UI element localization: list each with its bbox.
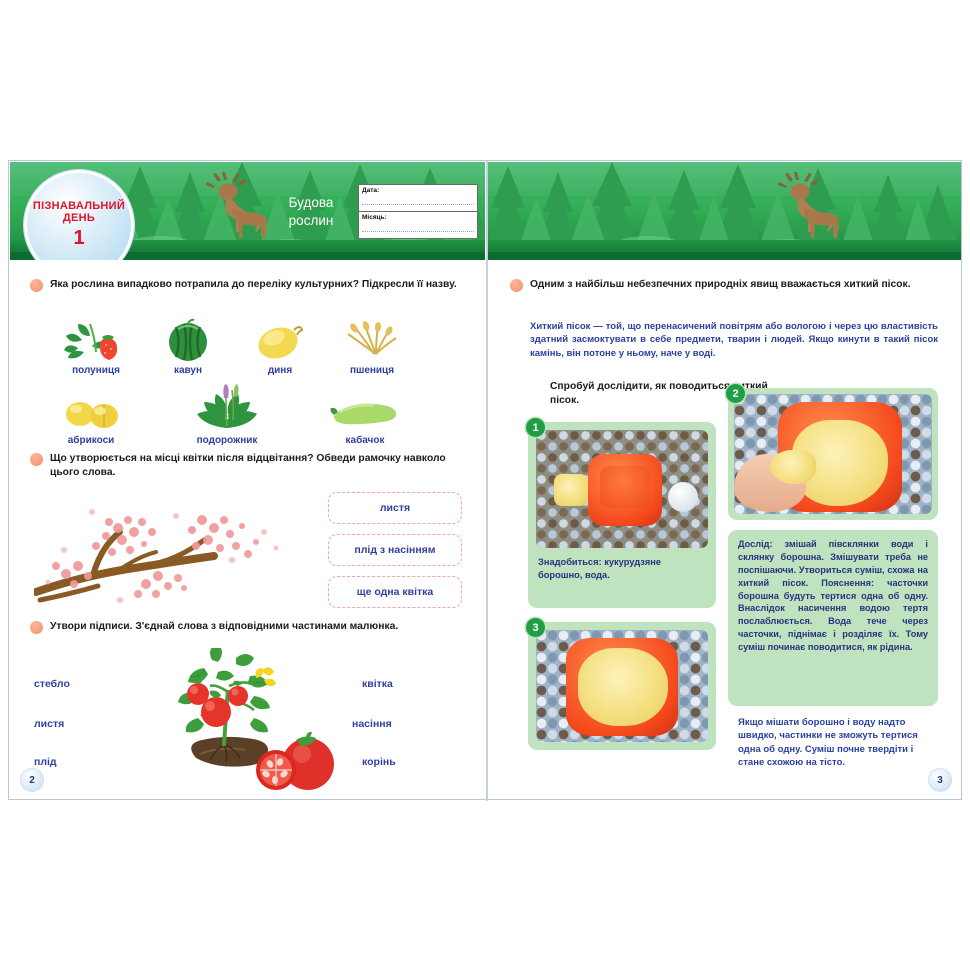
task-3-question: Утвори підписи. З'єднай слова з відповід…	[50, 620, 470, 634]
orange-bowl-shape	[588, 454, 662, 526]
item-label: пшениця	[324, 365, 420, 376]
badge-line-1: ПІЗНАВАЛЬНИЙ	[33, 201, 125, 213]
item-strawberry[interactable]: полуниця	[48, 318, 144, 376]
month-label: Місяць:	[362, 214, 387, 221]
band-ground-shadow	[488, 252, 961, 260]
task-bullet-icon	[510, 279, 523, 292]
experiment-explanation: Дослід: змішай півсклянки води і склянку…	[738, 538, 928, 654]
step-number-3: 3	[526, 618, 545, 637]
deer-icon	[188, 172, 274, 244]
date-field-row[interactable]: Дата:	[359, 185, 477, 212]
experiment-card-3: 3	[528, 622, 716, 750]
bowl-flour-glass-photo	[536, 430, 708, 548]
option-box-3[interactable]: ще одна квітка	[328, 576, 462, 608]
bowl-of-flour-photo	[536, 630, 708, 742]
month-field-row[interactable]: Місяць:	[359, 212, 477, 238]
label-korin[interactable]: корінь	[362, 756, 396, 768]
label-kvitka[interactable]: квітка	[362, 678, 393, 690]
left-header-band: ПІЗНАВАЛЬНИЙ ДЕНЬ 1 Будова рослин Дата: …	[10, 162, 485, 260]
step-number-1: 1	[526, 418, 545, 437]
right-header-band: ДЕНЬ ЕКСПЕРИМЕНТІВ 2 Хиткий пісок Дата: …	[488, 162, 961, 260]
task-bullet-icon	[30, 453, 43, 466]
option-label: плід з насінням	[354, 544, 435, 556]
left-page-number: 2	[20, 768, 44, 792]
label-nasinnya[interactable]: насіння	[352, 718, 392, 730]
book-spread-page: ПІЗНАВАЛЬНИЙ ДЕНЬ 1 Будова рослин Дата: …	[0, 0, 970, 970]
lead-paragraph-block: Одним з найбільш небезпечних природніх я…	[510, 278, 936, 292]
option-label: ще одна квітка	[357, 586, 434, 598]
task-bullet-icon	[30, 621, 43, 634]
task-3: Утвори підписи. З'єднай слова з відповід…	[30, 620, 470, 634]
item-wheat[interactable]: пшениця	[324, 318, 420, 376]
watermelon-icon	[140, 318, 236, 362]
task-bullet-icon	[30, 279, 43, 292]
item-plantain[interactable]: подорожник	[162, 382, 292, 446]
flour-in-hand-shape	[770, 450, 816, 484]
melon-icon	[232, 318, 328, 362]
task-2: Що утворюється на місці квітки після від…	[30, 452, 460, 480]
date-label: Дата:	[362, 187, 379, 194]
item-melon[interactable]: диня	[232, 318, 328, 376]
plantain-icon	[162, 382, 292, 432]
item-label: подорожник	[162, 435, 292, 446]
blossom-branch-image	[34, 488, 294, 608]
experiment-card-2: 2	[728, 388, 938, 520]
apricots-icon	[38, 388, 144, 432]
zucchini-icon	[310, 388, 420, 432]
closing-paragraph: Якщо мішати борошно і воду надто швидко,…	[738, 716, 934, 770]
badge-number: 1	[73, 228, 84, 250]
step-1-caption: Знадобиться: кукурудзяне борошно, вода.	[538, 556, 708, 581]
right-lead-text: Одним з найбільш небезпечних природніх я…	[530, 278, 936, 292]
task-1-question: Яка рослина випадково потрапила до перел…	[50, 278, 460, 292]
left-date-box[interactable]: Дата: Місяць:	[358, 184, 478, 239]
label-plid[interactable]: плід	[34, 756, 57, 768]
option-label: листя	[380, 502, 410, 514]
left-page-body: Яка рослина випадково потрапила до перел…	[10, 260, 485, 800]
item-label: абрикоси	[38, 435, 144, 446]
experiment-card-1: 1 Знадобиться: кукурудзяне борошно, вода…	[528, 422, 716, 608]
right-page-number: 3	[928, 768, 952, 792]
option-box-2[interactable]: плід з насінням	[328, 534, 462, 566]
quicksand-description: Хиткий пісок — той, що перенасичений пов…	[530, 320, 938, 360]
flour-pile-shape	[554, 474, 588, 506]
strawberry-icon	[48, 318, 144, 362]
experiment-text-card: Дослід: змішай півсклянки води і склянку…	[728, 530, 938, 706]
item-label: полуниця	[48, 365, 144, 376]
sliced-tomato-icon	[250, 730, 342, 796]
task-1: Яка рослина випадково потрапила до перел…	[30, 278, 460, 292]
hand-with-flour-photo	[734, 394, 932, 514]
item-zucchini[interactable]: кабачок	[310, 388, 420, 446]
deer-icon	[760, 172, 846, 244]
step-number-2: 2	[726, 384, 745, 403]
right-page-body: Одним з найбільш небезпечних природніх я…	[488, 260, 961, 800]
item-label: кавун	[140, 365, 236, 376]
spread-frame: ПІЗНАВАЛЬНИЙ ДЕНЬ 1 Будова рослин Дата: …	[8, 160, 962, 800]
badge-line-2: ДЕНЬ	[63, 213, 95, 225]
flour-mix-shape	[578, 648, 668, 726]
option-box-1[interactable]: листя	[328, 492, 462, 524]
left-page-title: Будова рослин	[268, 194, 354, 230]
glass-shape	[668, 482, 698, 512]
label-listya[interactable]: листя	[34, 718, 64, 730]
task-2-question: Що утворюється на місці квітки після від…	[50, 452, 460, 480]
label-stebло[interactable]: стебло	[34, 678, 70, 690]
item-label: диня	[232, 365, 328, 376]
item-label: кабачок	[310, 435, 420, 446]
item-watermelon[interactable]: кавун	[140, 318, 236, 376]
wheat-icon	[324, 318, 420, 362]
item-apricots[interactable]: абрикоси	[38, 388, 144, 446]
